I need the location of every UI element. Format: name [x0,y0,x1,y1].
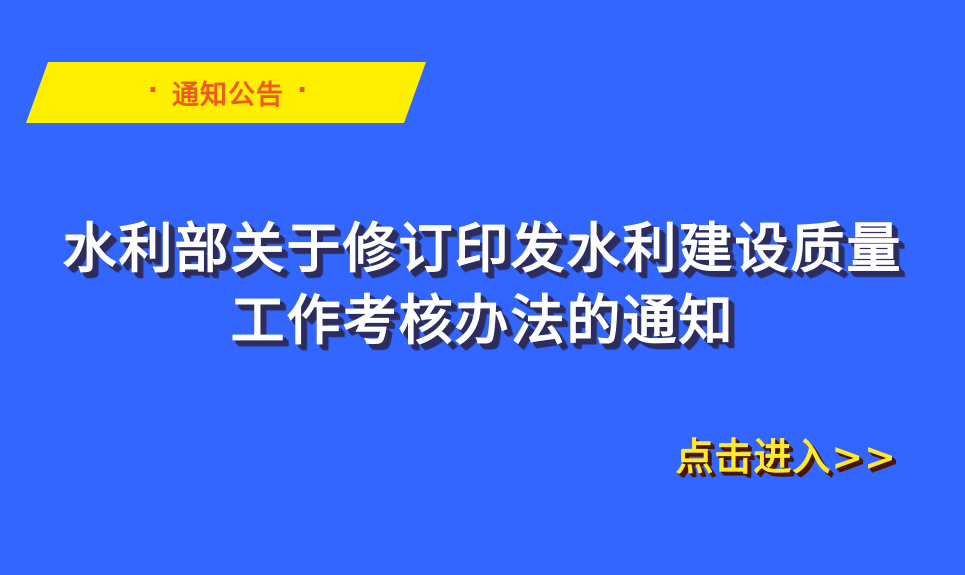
section-tag-banner: · 通知公告 · [26,62,426,123]
banner-right-dot-icon: · [297,77,308,104]
page-title-line-2: 工作考核办法的通知 [0,284,965,356]
banner-label-group: · 通知公告 · [26,62,426,123]
page-title: 水利部关于修订印发水利建设质量 工作考核办法的通知 [0,212,965,356]
banner-left-dot-icon: · [148,77,159,104]
banner-label-text: 通知公告 [172,73,284,112]
page-title-line-1: 水利部关于修订印发水利建设质量 [0,212,965,284]
promo-banner-slide: · 通知公告 · 水利部关于修订印发水利建设质量 工作考核办法的通知 点击进入>… [0,0,965,575]
enter-link[interactable]: 点击进入>> [675,434,897,480]
